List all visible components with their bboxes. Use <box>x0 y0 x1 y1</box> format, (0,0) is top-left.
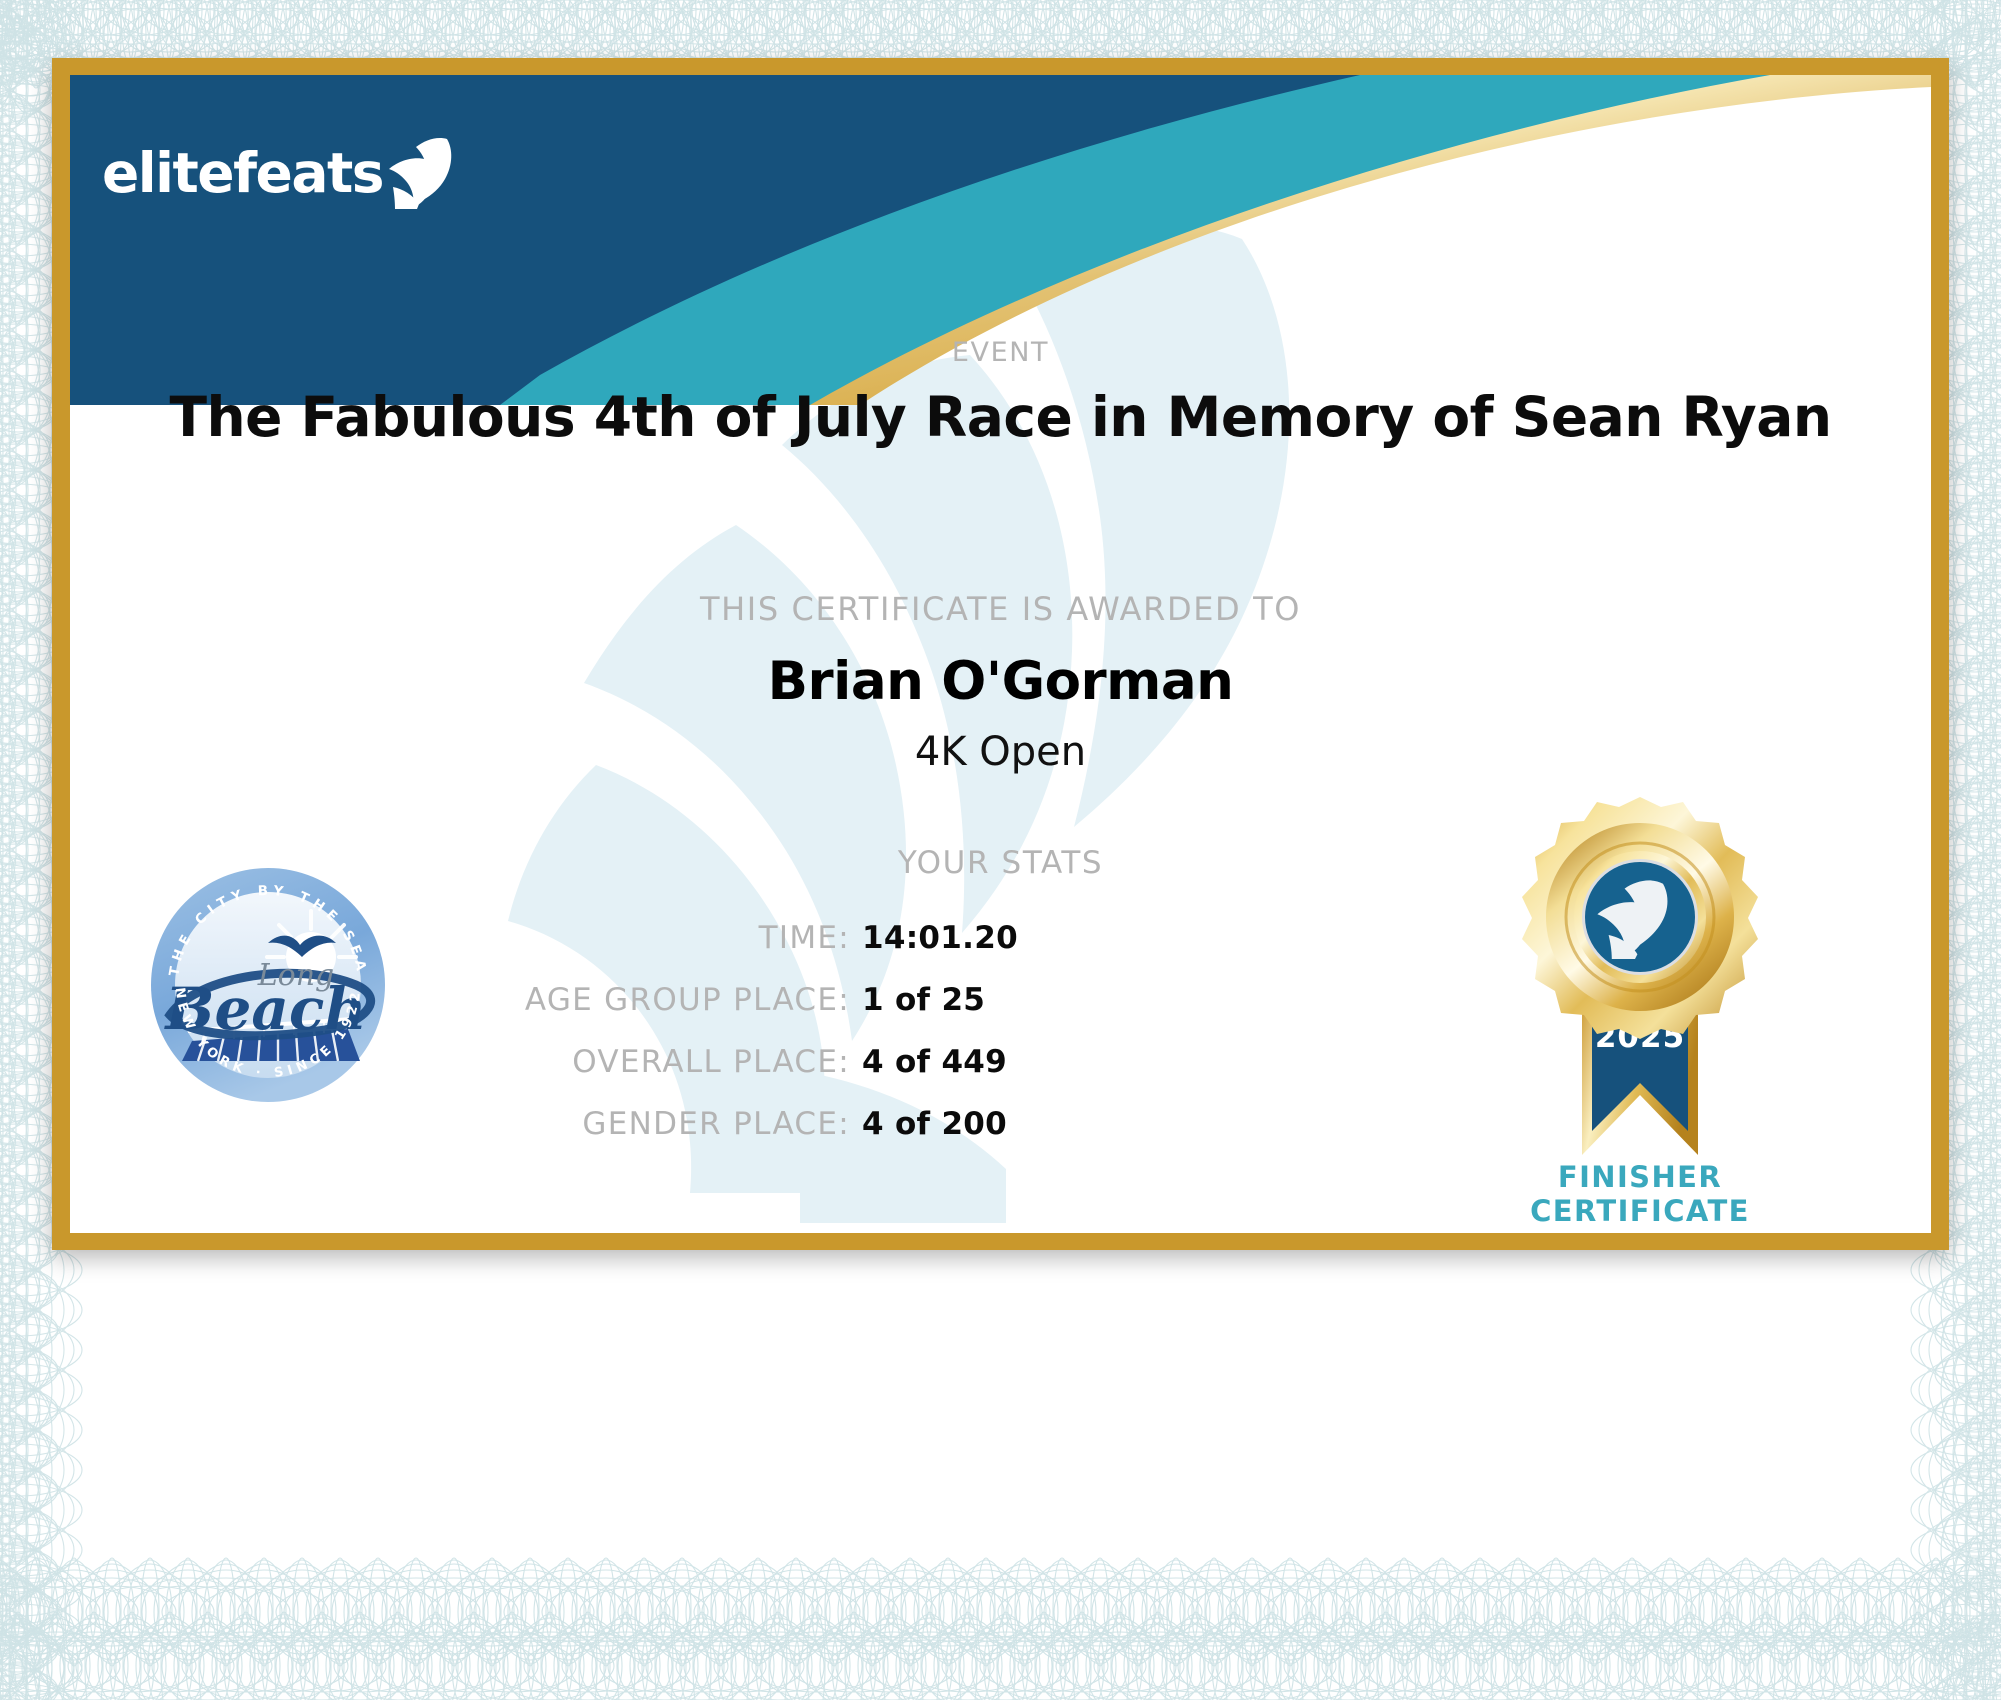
stat-key-gender-place: GENDER PLACE: <box>70 1106 850 1142</box>
event-label: EVENT <box>70 337 1931 368</box>
stat-value-gender-place: 4 of 200 <box>862 1106 1007 1142</box>
medal-caption-line1: FINISHER <box>1470 1160 1810 1194</box>
certificate-card: elitefeats EVENT The Fabulous 4th of Jul… <box>70 75 1931 1233</box>
stat-value-age-group-place: 1 of 25 <box>862 982 985 1018</box>
recipient-name: Brian O'Gorman <box>70 651 1931 712</box>
certificate-content: EVENT The Fabulous 4th of July Race in M… <box>70 75 1931 1233</box>
finisher-medal: 2025 <box>1510 795 1770 1185</box>
medal-caption-line2: CERTIFICATE <box>1470 1194 1810 1228</box>
medal-caption: FINISHER CERTIFICATE <box>1470 1160 1810 1228</box>
division-name: 4K Open <box>70 729 1931 775</box>
event-title: The Fabulous 4th of July Race in Memory … <box>70 385 1931 449</box>
stat-value-overall-place: 4 of 449 <box>862 1044 1007 1080</box>
stat-value-time: 14:01.20 <box>862 920 1018 956</box>
awarded-to-label: THIS CERTIFICATE IS AWARDED TO <box>70 590 1931 628</box>
long-beach-city-seal: Long Beach THE CITY BY THE SEA NEW YORK … <box>148 865 388 1105</box>
